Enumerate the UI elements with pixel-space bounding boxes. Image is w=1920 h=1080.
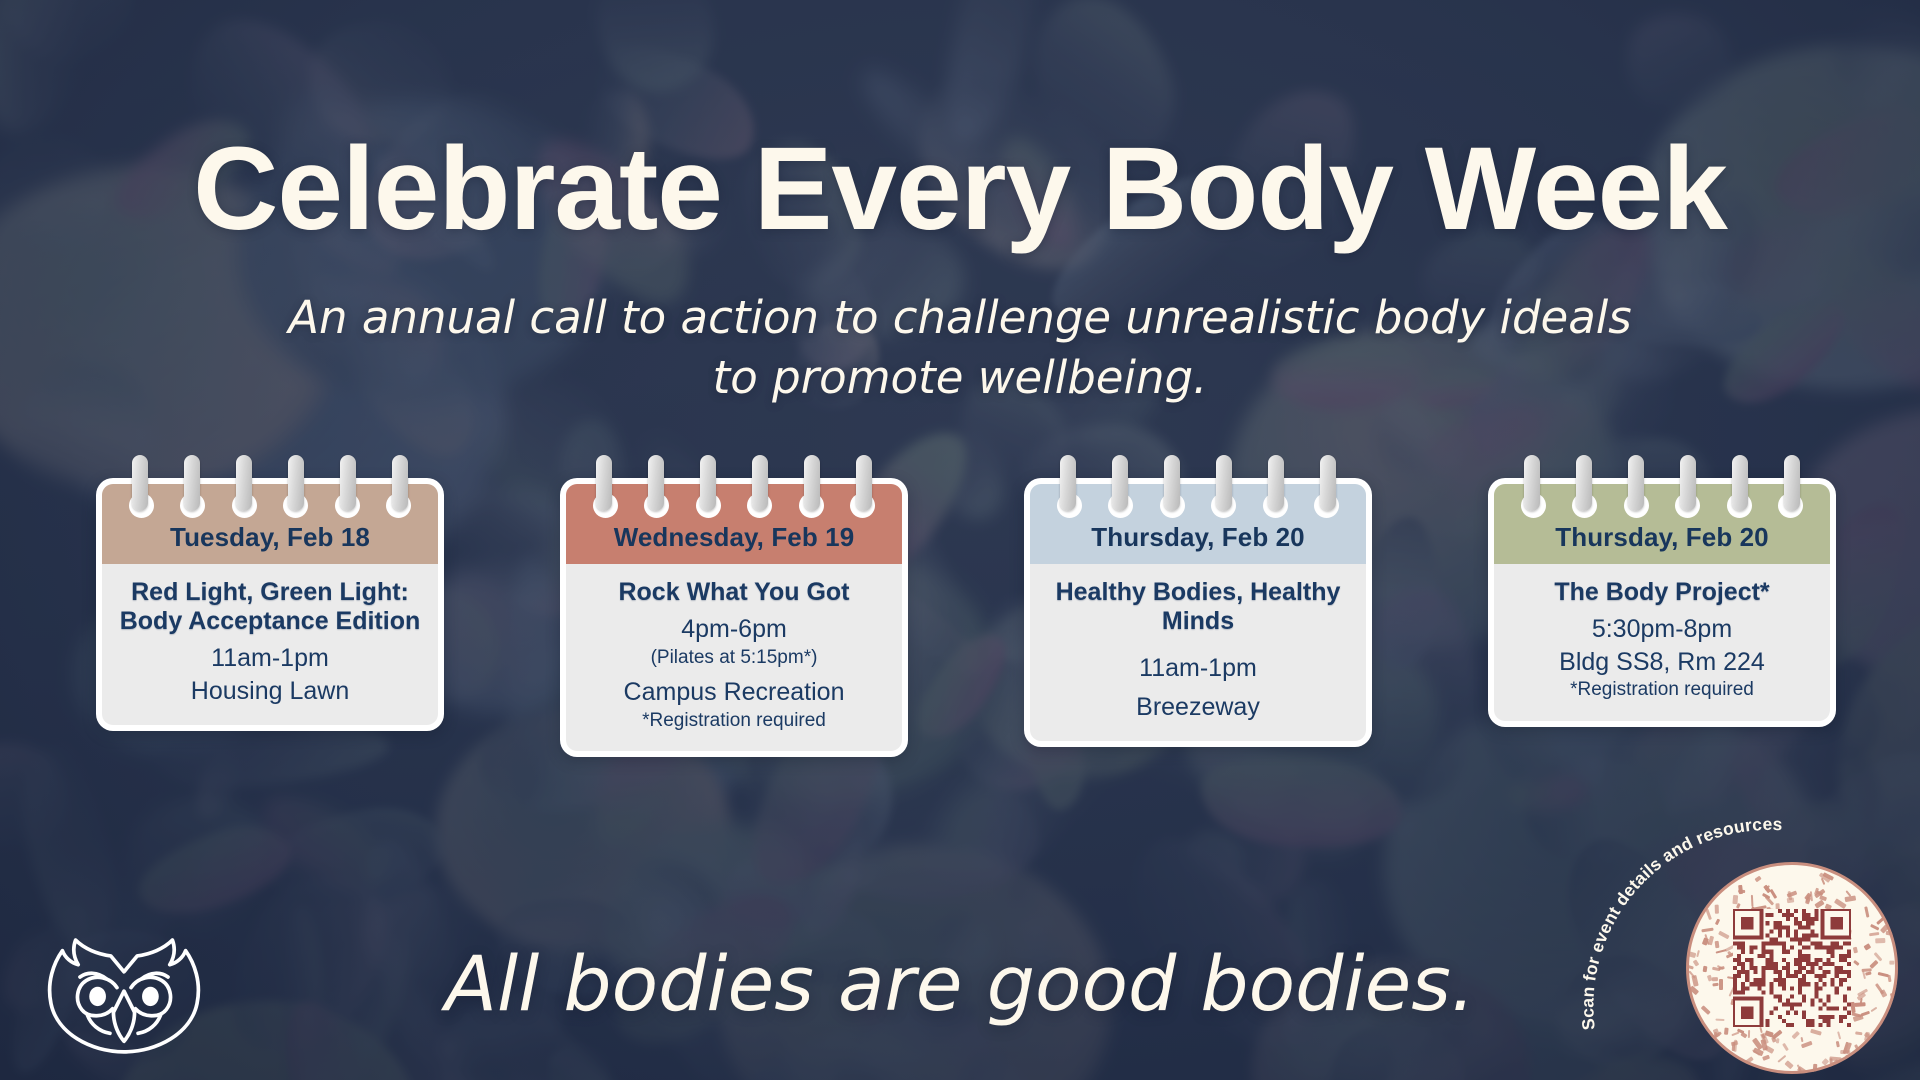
- event-date-label: Wednesday, Feb 19: [614, 522, 855, 552]
- event-details: Red Light, Green Light: Body Acceptance …: [102, 564, 438, 725]
- ring-holes-icon: [1030, 493, 1366, 519]
- event-date-header: Thursday, Feb 20: [1030, 484, 1366, 564]
- event-date-header: Tuesday, Feb 18: [102, 484, 438, 564]
- event-date-label: Thursday, Feb 20: [1555, 522, 1769, 552]
- event-card[interactable]: Thursday, Feb 20 The Body Project* 5:30p…: [1488, 478, 1836, 727]
- ring-holes-icon: [1494, 493, 1830, 519]
- event-title: Red Light, Green Light: Body Acceptance …: [114, 578, 426, 636]
- event-details: Rock What You Got 4pm-6pm (Pilates at 5:…: [566, 564, 902, 751]
- event-time: 5:30pm-8pm: [1506, 613, 1818, 646]
- event-title: The Body Project*: [1506, 578, 1818, 607]
- event-date-label: Thursday, Feb 20: [1091, 522, 1305, 552]
- event-location: Campus Recreation: [578, 676, 890, 709]
- fau-owl-logo: [36, 926, 212, 1058]
- event-date-header: Wednesday, Feb 19: [566, 484, 902, 564]
- event-location: Bldg SS8, Rm 224: [1506, 646, 1818, 679]
- event-registration-note: *Registration required: [578, 709, 890, 734]
- event-location: Breezeway: [1042, 691, 1354, 724]
- qr-caption-curved: Scan for event details and resources: [1568, 804, 1908, 1080]
- svg-text:Scan for event details and res: Scan for event details and resources: [1577, 814, 1783, 1031]
- event-card-list: Tuesday, Feb 18 Red Light, Green Light: …: [96, 478, 1836, 757]
- event-card[interactable]: Tuesday, Feb 18 Red Light, Green Light: …: [96, 478, 444, 731]
- event-title: Healthy Bodies, Healthy Minds: [1042, 578, 1354, 636]
- subtitle-line-1: An annual call to action to challenge un…: [0, 288, 1920, 348]
- event-details: The Body Project* 5:30pm-8pm Bldg SS8, R…: [1494, 564, 1830, 721]
- kicker-arched-text: Join us for: [580, 8, 1340, 138]
- page-title: Celebrate Every Body Week: [0, 130, 1920, 248]
- event-location: Housing Lawn: [114, 675, 426, 708]
- event-time-note: (Pilates at 5:15pm*): [578, 646, 890, 671]
- event-time: 11am-1pm: [114, 642, 426, 675]
- event-date-header: Thursday, Feb 20: [1494, 484, 1830, 564]
- ring-holes-icon: [102, 493, 438, 519]
- page-subtitle: An annual call to action to challenge un…: [0, 288, 1920, 408]
- event-card[interactable]: Thursday, Feb 20 Healthy Bodies, Healthy…: [1024, 478, 1372, 747]
- event-details: Healthy Bodies, Healthy Minds 11am-1pm B…: [1030, 564, 1366, 741]
- qr-code-badge[interactable]: Scan for event details and resources: [1686, 862, 1898, 1074]
- subtitle-line-2: to promote wellbeing.: [0, 348, 1920, 408]
- event-card[interactable]: Wednesday, Feb 19 Rock What You Got 4pm-…: [560, 478, 908, 757]
- event-time: 4pm-6pm: [578, 613, 890, 646]
- ring-holes-icon: [566, 493, 902, 519]
- event-title: Rock What You Got: [578, 578, 890, 607]
- event-time: 11am-1pm: [1042, 652, 1354, 685]
- event-registration-note: *Registration required: [1506, 678, 1818, 703]
- qr-caption-label: Scan for event details and resources: [1577, 814, 1783, 1031]
- event-date-label: Tuesday, Feb 18: [170, 522, 370, 552]
